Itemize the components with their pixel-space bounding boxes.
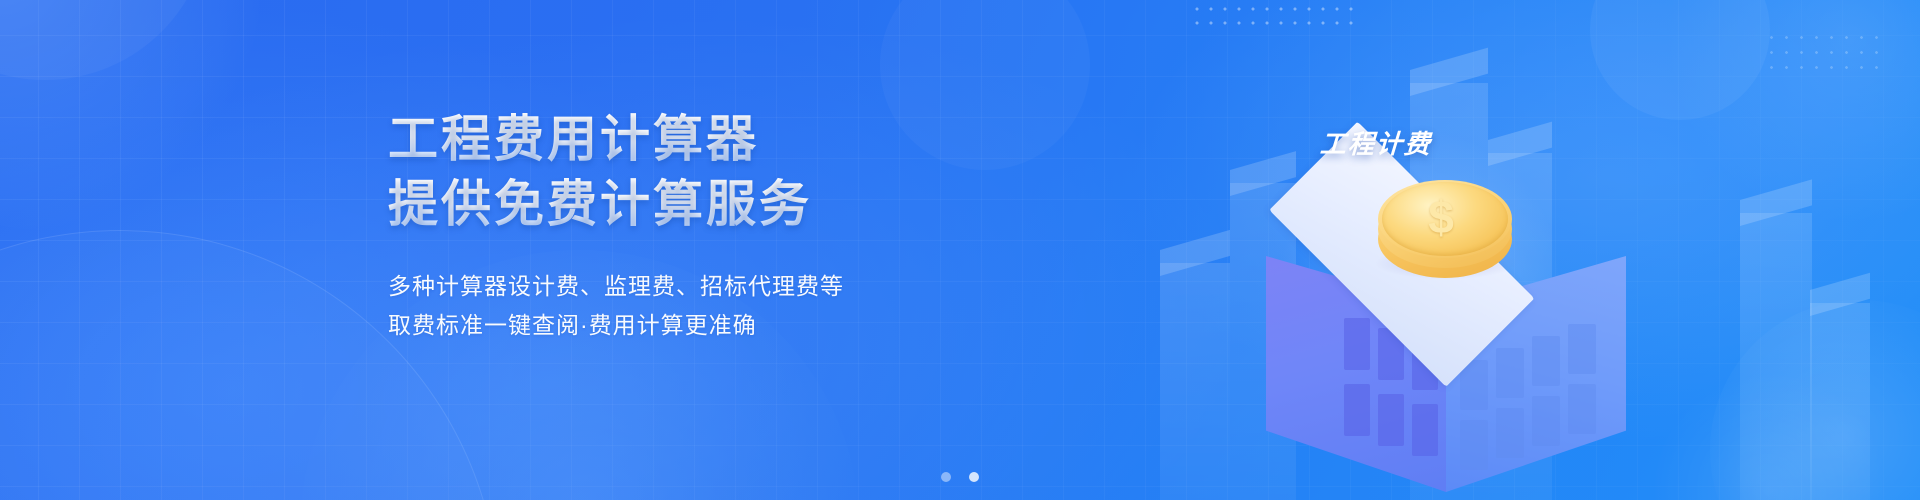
gold-coin-icon: $ [1378,164,1512,280]
illustration-label: 工程计费 [1319,124,1433,161]
headline-line-2: 提供免费计算服务 [388,175,1008,233]
carousel-dot-1[interactable] [941,472,951,482]
headline-line-1: 工程费用计算器 [388,110,1008,168]
carousel-indicator[interactable] [0,472,1920,482]
banner-copy: 工程费用计算器 提供免费计算服务 多种计算器设计费、监理费、招标代理费等 取费标… [388,110,1008,345]
banner-illustration: $ 工程计费 [1080,0,1920,500]
skyline-bar-5 [1740,200,1812,500]
carousel-dot-2[interactable] [969,472,979,482]
skyline-bar-1 [1160,250,1230,500]
skyline-bar-6 [1810,290,1870,500]
promo-banner: 工程费用计算器 提供免费计算服务 多种计算器设计费、监理费、招标代理费等 取费标… [0,0,1920,500]
decor-circle-a [0,0,260,230]
subtitle-line-1: 多种计算器设计费、监理费、招标代理费等 [388,267,1008,306]
decor-circle-b [0,0,210,80]
subtitle-line-2: 取费标准一键查阅·费用计算更准确 [388,306,1008,345]
currency-symbol: $ [1378,180,1504,254]
